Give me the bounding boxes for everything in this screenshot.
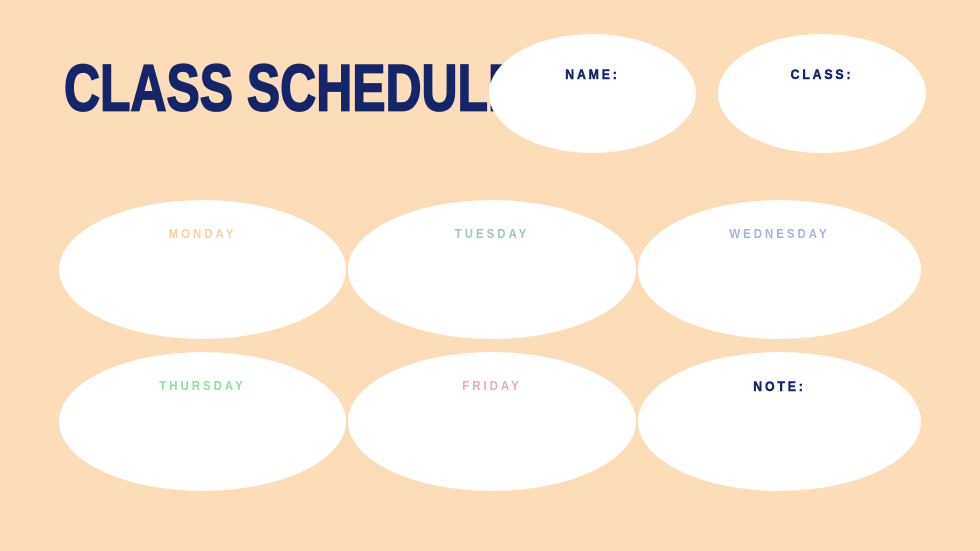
- note-field-label: NOTE:: [655, 378, 904, 394]
- name-field-label: NAME:: [501, 66, 683, 82]
- schedule-cell-tuesday[interactable]: TUESDAY: [348, 200, 636, 339]
- note-field-oval[interactable]: NOTE:: [638, 352, 921, 491]
- class-field-oval[interactable]: CLASS:: [718, 34, 926, 153]
- name-field-oval[interactable]: NAME:: [489, 34, 696, 153]
- class-field-label: CLASS:: [730, 66, 913, 82]
- schedule-cell-label-wednesday: WEDNESDAY: [655, 226, 904, 241]
- class-schedule-worksheet: CLASS SCHEDULE NAME: CLASS: MONDAY TUESD…: [0, 0, 980, 551]
- schedule-cell-thursday[interactable]: THURSDAY: [59, 352, 346, 491]
- schedule-cell-label-tuesday: TUESDAY: [365, 226, 618, 241]
- schedule-cell-label-friday: FRIDAY: [365, 378, 618, 393]
- schedule-cell-friday[interactable]: FRIDAY: [348, 352, 636, 491]
- page-title: CLASS SCHEDULE: [64, 56, 521, 122]
- schedule-cell-monday[interactable]: MONDAY: [59, 200, 346, 339]
- schedule-cell-label-monday: MONDAY: [76, 226, 329, 241]
- schedule-cell-wednesday[interactable]: WEDNESDAY: [638, 200, 921, 339]
- schedule-cell-label-thursday: THURSDAY: [76, 378, 329, 393]
